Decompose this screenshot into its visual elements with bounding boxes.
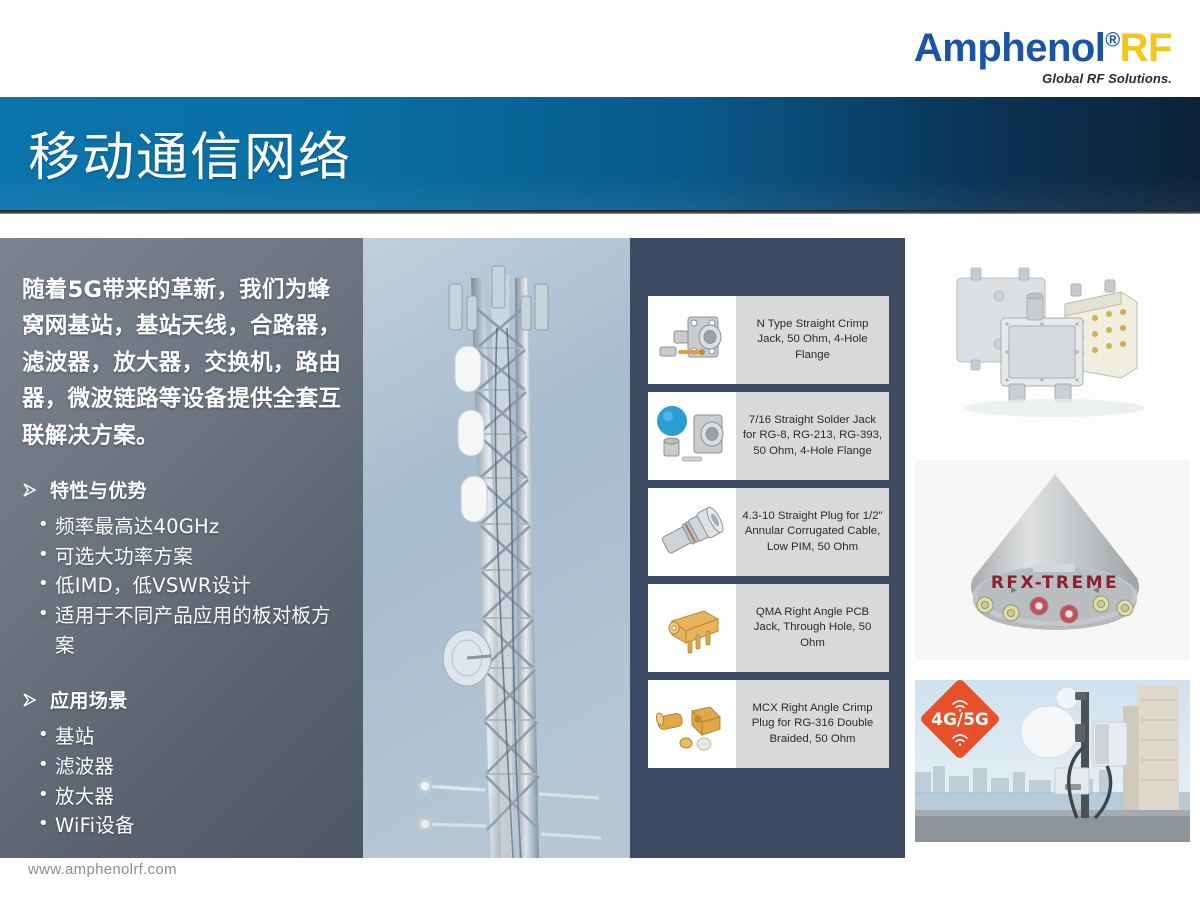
list-item: 放大器 bbox=[38, 782, 343, 812]
product-list-panel: N Type Straight Crimp Jack, 50 Ohm, 4-Ho… bbox=[630, 238, 905, 858]
page-title: 移动通信网络 bbox=[28, 115, 352, 190]
four-three-ten-plug-thumb bbox=[648, 488, 736, 576]
list-item: WiFi设备 bbox=[38, 811, 343, 841]
list-item: 低IMD，低VSWR设计 bbox=[38, 571, 343, 601]
cell-tower-photo bbox=[363, 238, 630, 858]
list-item: 基站 bbox=[38, 722, 343, 752]
applications-list: 基站 滤波器 放大器 WiFi设备 bbox=[38, 722, 343, 841]
logo-wordmark: Amphenol®RF bbox=[914, 28, 1172, 68]
title-band: 移动通信网络 bbox=[0, 97, 1200, 210]
registered-trademark-icon: ® bbox=[1105, 30, 1119, 52]
applications-section: 应用场景 基站 滤波器 放大器 WiFi设备 bbox=[22, 686, 343, 841]
logo-amphenol-text: Amphenol bbox=[914, 26, 1106, 70]
qma-right-angle-jack-thumb bbox=[648, 584, 736, 672]
slide-root: Amphenol®RF Global RF Solutions. 移动通信网络 … bbox=[0, 0, 1200, 900]
seven-sixteen-flange-jack-thumb bbox=[648, 392, 736, 480]
rooftop-4g5g-antenna-site-photo: 4G/5G bbox=[915, 680, 1190, 842]
list-item[interactable]: 4.3-10 Straight Plug for 1/2" Annular Co… bbox=[648, 488, 889, 576]
product-label: MCX Right Angle Crimp Plug for RG-316 Do… bbox=[736, 680, 889, 768]
logo-tagline: Global RF Solutions. bbox=[914, 72, 1172, 85]
chevron-right-icon bbox=[22, 482, 38, 498]
rfx-treme-cone-antenna-photo: RFX-TREME bbox=[915, 460, 1190, 660]
intro-paragraph: 随着5G带来的革新，我们为蜂窝网基站，基站天线，合路器，滤波器，放大器，交换机，… bbox=[22, 272, 343, 454]
rf-cavity-filter-modules-photo bbox=[915, 256, 1190, 428]
slide-header: Amphenol®RF Global RF Solutions. bbox=[0, 0, 1200, 97]
amphenol-rf-logo: Amphenol®RF Global RF Solutions. bbox=[914, 28, 1172, 85]
list-item[interactable]: 7/16 Straight Solder Jack for RG-8, RG-2… bbox=[648, 392, 889, 480]
footer-url[interactable]: www.amphenolrf.com bbox=[28, 861, 177, 878]
rfx-treme-product-text: RFX-TREME bbox=[991, 573, 1119, 593]
title-divider bbox=[0, 210, 1200, 214]
applications-title: 应用场景 bbox=[50, 686, 128, 713]
list-item: 适用于不同产品应用的板对板方案 bbox=[38, 601, 343, 660]
list-item[interactable]: N Type Straight Crimp Jack, 50 Ohm, 4-Ho… bbox=[648, 296, 889, 384]
list-item[interactable]: MCX Right Angle Crimp Plug for RG-316 Do… bbox=[648, 680, 889, 768]
features-list: 频率最高达40GHz 可选大功率方案 低IMD，低VSWR设计 适用于不同产品应… bbox=[38, 512, 343, 660]
n-type-flange-jack-thumb bbox=[648, 296, 736, 384]
chevron-right-icon bbox=[22, 692, 38, 708]
features-section: 特性与优势 频率最高达40GHz 可选大功率方案 低IMD，低VSWR设计 适用… bbox=[22, 476, 343, 660]
product-label: QMA Right Angle PCB Jack, Through Hole, … bbox=[736, 584, 889, 672]
list-item: 滤波器 bbox=[38, 752, 343, 782]
logo-rf-text: RF bbox=[1120, 26, 1172, 70]
features-section-header: 特性与优势 bbox=[22, 476, 343, 503]
product-label: 4.3-10 Straight Plug for 1/2" Annular Co… bbox=[736, 488, 889, 576]
features-title: 特性与优势 bbox=[50, 476, 147, 503]
list-item: 频率最高达40GHz bbox=[38, 512, 343, 542]
list-item[interactable]: QMA Right Angle PCB Jack, Through Hole, … bbox=[648, 584, 889, 672]
product-label: N Type Straight Crimp Jack, 50 Ohm, 4-Ho… bbox=[736, 296, 889, 384]
gallery-column: RFX-TREME bbox=[905, 238, 1200, 858]
left-info-panel: 随着5G带来的革新，我们为蜂窝网基站，基站天线，合路器，滤波器，放大器，交换机，… bbox=[0, 238, 363, 858]
applications-section-header: 应用场景 bbox=[22, 686, 343, 713]
product-label: 7/16 Straight Solder Jack for RG-8, RG-2… bbox=[736, 392, 889, 480]
list-item: 可选大功率方案 bbox=[38, 542, 343, 572]
cell-tower-illustration bbox=[363, 238, 630, 858]
mcx-right-angle-plug-thumb bbox=[648, 680, 736, 768]
badge-label: 4G/5G bbox=[931, 710, 989, 730]
